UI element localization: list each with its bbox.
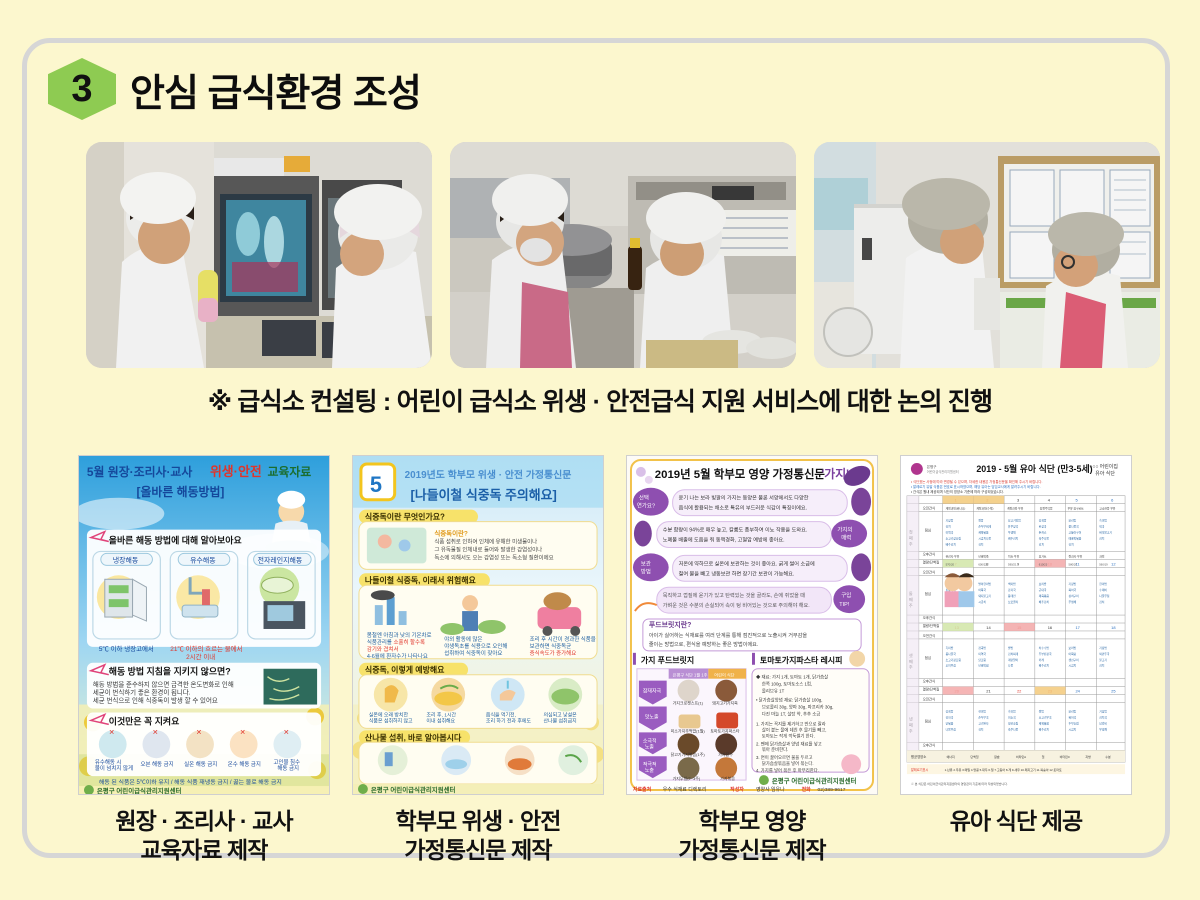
- svg-text:음식에 활용되는 채소로 특유의 부드러운 식감이 특징이에: 음식에 활용되는 채소로 특유의 부드러운 식감이 특징이에요.: [679, 504, 807, 512]
- svg-text:김치: 김치: [978, 727, 984, 731]
- svg-text:유수해동: 유수해동: [190, 555, 216, 564]
- svg-text:점심: 점심: [925, 655, 931, 660]
- svg-text:섭취하여 식중독이 잦아요: 섭취하여 식중독이 잦아요: [444, 649, 502, 657]
- svg-text:단호박찜: 단호박찜: [978, 664, 989, 668]
- svg-text:현미밥: 현미밥: [1099, 582, 1107, 586]
- svg-text:콩나물국: 콩나물국: [946, 652, 957, 656]
- svg-text:김치: 김치: [1069, 542, 1075, 546]
- svg-text:북어국: 북어국: [1069, 715, 1077, 719]
- svg-text:잠재자극: 잠재자극: [643, 688, 662, 695]
- svg-text:590/21: 590/21: [1008, 562, 1017, 566]
- section-number-badge: 3: [48, 58, 116, 120]
- svg-text:노출: 노출: [645, 767, 655, 774]
- svg-text:근대국: 근대국: [1039, 588, 1047, 592]
- svg-text:단호박죽: 단호박죽: [978, 554, 989, 558]
- svg-text:된장국: 된장국: [1039, 525, 1047, 529]
- svg-text:02)389-9617: 02)389-9617: [817, 787, 845, 793]
- svg-text:21℃ 이하의 흐르는 물에서: 21℃ 이하의 흐르는 물에서: [170, 644, 242, 653]
- svg-text:닭조림: 닭조림: [978, 658, 986, 662]
- svg-text:한쪽 100g, 토마토소스 1컵,: 한쪽 100g, 토마토소스 1컵,: [762, 681, 812, 688]
- svg-text:보리밥: 보리밥: [1069, 646, 1077, 650]
- svg-text:14: 14: [986, 625, 991, 630]
- svg-text:4. 가지를 넣어 볶은 후 마무리한다.: 4. 가지를 넣어 볶은 후 마무리한다.: [756, 767, 819, 774]
- poster-thumbnail-parent-nutrition-newsletter[interactable]: 2019년 5월 학부모 영양 가정통신문 '가지' 선택 연가요? 윤기 나는…: [626, 455, 878, 795]
- svg-text:구입: 구입: [841, 591, 851, 599]
- svg-text:음식을 먹기전,: 음식을 먹기전,: [486, 711, 516, 718]
- svg-text:닭가슴살볶음을 넣어 볶는다.: 닭가슴살볶음을 넣어 볶는다.: [762, 760, 814, 767]
- svg-text:냉장해동: 냉장해동: [113, 555, 139, 564]
- svg-text:무생채: 무생채: [1008, 531, 1016, 535]
- svg-text:닭갈비: 닭갈비: [1099, 721, 1107, 725]
- svg-text:불고기: 불고기: [1099, 658, 1107, 662]
- svg-text:시금치나물: 시금치나물: [978, 537, 991, 541]
- svg-text:나들이철 식중독, 이래서 위험해요: 나들이철 식중독, 이래서 위험해요: [365, 575, 477, 585]
- poster-caption-1: 원장 · 조리사 · 교사 교육자료 제작: [115, 807, 292, 866]
- svg-text:✕: ✕: [196, 729, 202, 736]
- svg-text:제육볶음: 제육볶음: [1039, 721, 1050, 725]
- svg-text:야생독초를 식용으로 오인해: 야생독초를 식용으로 오인해: [444, 642, 507, 650]
- svg-text:차수수밥: 차수수밥: [1039, 646, 1050, 650]
- svg-text:배추김치: 배추김치: [1039, 727, 1050, 731]
- svg-text:절여 물을 빼고 냉동보관 하면 장기간 보관이 가능해요.: 절여 물을 빼고 냉동보관 하면 장기간 보관이 가능해요.: [679, 569, 795, 577]
- svg-text:단백질: 단백질: [970, 754, 978, 759]
- svg-text:독소에 의해서도 오는 감염성 또는 독소형 질환이에요: 독소에 의해서도 오는 감염성 또는 독소형 질환이에요: [434, 553, 553, 561]
- svg-text:우유·요구르트: 우유·요구르트: [1068, 507, 1085, 511]
- svg-text:김치: 김치: [1099, 537, 1105, 541]
- svg-text:12: 12: [1111, 561, 1115, 566]
- svg-text:지방: 지방: [1085, 754, 1091, 759]
- svg-text:실온에 오래 방치한: 실온에 오래 방치한: [369, 711, 409, 718]
- svg-text:24: 24: [1075, 689, 1080, 694]
- svg-text:돈까스: 돈까스: [1039, 531, 1047, 535]
- svg-text:5: 5: [370, 472, 382, 497]
- svg-text:미소가지주먹밥(1월): 미소가지주먹밥(1월): [671, 728, 706, 733]
- svg-text:브로콜리: 브로콜리: [1008, 600, 1019, 604]
- svg-text:가지 푸드브릿지: 가지 푸드브릿지: [641, 655, 694, 665]
- svg-text:나물무침: 나물무침: [1099, 594, 1110, 598]
- svg-text:어린이급식관리지원센터: 어린이급식관리지원센터: [927, 469, 959, 474]
- svg-text:은평구 식단 1월 1주: 은평구 식단 1월 1주: [673, 672, 708, 678]
- svg-text:보관: 보관: [641, 559, 651, 567]
- svg-text:오후간식: 오후간식: [923, 551, 935, 556]
- svg-text:오전간식: 오전간식: [923, 506, 935, 511]
- svg-text:떡국: 떡국: [1099, 525, 1105, 529]
- photo-caption: ※ 급식소 컨설팅 : 어린이 급식소 위생 · 안전급식 지원 서비스에 대한…: [0, 382, 1200, 418]
- svg-text:식중독, 이렇게 예방해요: 식중독, 이렇게 예방해요: [365, 665, 445, 675]
- svg-text:제육볶음: 제육볶음: [978, 531, 989, 535]
- svg-text:무생채: 무생채: [1069, 600, 1077, 604]
- poster-caption-2: 학부모 위생 · 안전 가정통신문 제작: [395, 807, 560, 866]
- svg-text:쌀밥: 쌀밥: [978, 519, 984, 523]
- svg-text:닭볶음: 닭볶음: [946, 721, 954, 725]
- svg-text:계란말이: 계란말이: [1008, 658, 1019, 662]
- svg-text:시금치: 시금치: [978, 600, 986, 604]
- svg-text:어린이 식단: 어린이 식단: [714, 672, 734, 678]
- poster-col-2: 5 2019년도 학부모 위생 · 안전 가정통신문 [나들이철 식중독 주의해…: [352, 455, 604, 866]
- svg-text:버섯불고기: 버섯불고기: [1099, 531, 1112, 535]
- svg-text:숙주나물: 숙주나물: [1008, 727, 1019, 731]
- svg-text:5월 원장·조리사·교사: 5월 원장·조리사·교사: [87, 465, 192, 479]
- svg-text:김치: 김치: [1099, 600, 1105, 604]
- svg-text:칼슘: 칼슘: [994, 754, 1000, 759]
- poster-caption-4: 유아 식단 제공: [950, 807, 1083, 836]
- svg-text:숙주나물: 숙주나물: [1039, 537, 1050, 541]
- svg-text:비타민C: 비타민C: [1060, 754, 1071, 759]
- svg-text:계절과일(바나나): 계절과일(바나나): [946, 507, 966, 511]
- svg-text:선택: 선택: [639, 494, 649, 502]
- svg-text:방법: 방법: [641, 567, 651, 575]
- svg-text:열량/단백질: 열량/단백질: [923, 623, 939, 628]
- svg-text:시금치: 시금치: [1069, 664, 1077, 668]
- svg-text:수제비: 수제비: [1099, 588, 1107, 592]
- svg-text:식중독이란 무엇인가요?: 식중독이란 무엇인가요?: [365, 512, 445, 522]
- svg-text:산나물 섭취, 바로 알아봅시다: 산나물 섭취, 바로 알아봅시다: [365, 732, 462, 742]
- svg-text:오전간식: 오전간식: [923, 697, 935, 702]
- svg-text:쌀밥: 쌀밥: [1039, 709, 1045, 713]
- svg-text:가지잡수: 가지잡수: [718, 752, 733, 757]
- slide-header: 3 안심 급식환경 조성: [48, 58, 421, 120]
- svg-text:묵직하고 껍질에 윤기가 있고 탄력있는 것을 골라도, 손: 묵직하고 껍질에 윤기가 있고 탄력있는 것을 골라도, 손에 쥐었을 때: [663, 591, 806, 599]
- svg-text:적극적: 적극적: [643, 761, 657, 768]
- svg-text:해동 방법을 준수하지 않으면 급격한 온도변화로 인해: 해동 방법을 준수하지 않으면 급격한 온도변화로 인해: [93, 680, 234, 689]
- svg-text:4-6월에 환자수가 나타나요: 4-6월에 환자수가 나타나요: [367, 652, 428, 660]
- svg-text:17: 17: [1075, 625, 1079, 630]
- svg-text:2019년도 학부모 위생 · 안전 가정통신문: 2019년도 학부모 위생 · 안전 가정통신문: [405, 468, 572, 481]
- svg-text:◆ 재료: 가지 1개, 토마토 1개, 닭가슴살: ◆ 재료: 가지 1개, 토마토 1개, 닭가슴살: [756, 674, 828, 681]
- svg-text:610/23: 610/23: [1039, 562, 1048, 566]
- svg-text:볶아 준비한다.: 볶아 준비한다.: [762, 746, 788, 753]
- svg-text:백미밥: 백미밥: [1008, 582, 1016, 586]
- svg-text:오이무침: 오이무침: [946, 664, 957, 668]
- svg-text:○○○ 어린이집: ○○○ 어린이집: [1089, 463, 1118, 470]
- svg-text:배추김치: 배추김치: [946, 542, 957, 546]
- svg-text:고인물 침수: 고인물 침수: [273, 758, 300, 766]
- svg-text:삼치구이: 삼치구이: [1069, 594, 1080, 598]
- svg-text:물이 넘치지 않게: 물이 넘치지 않게: [95, 764, 133, 772]
- svg-text:생선구이: 생선구이: [1069, 658, 1080, 662]
- svg-text:560/19: 560/19: [1099, 562, 1108, 566]
- svg-text:현미밥: 현미밥: [978, 709, 986, 713]
- svg-text:570/20: 570/20: [946, 562, 955, 566]
- svg-text:전화: 전화: [802, 786, 812, 793]
- svg-text:돼지불고기: 돼지불고기: [978, 594, 991, 598]
- svg-text:수분 함량이 94%로 매우 높고, 칼륨도 풍부하여 이뇨: 수분 함량이 94%로 매우 높고, 칼륨도 풍부하여 이뇨 작용을 도와요.: [663, 526, 808, 534]
- svg-text:기장밥: 기장밥: [1069, 582, 1077, 586]
- svg-text:소고기무국: 소고기무국: [1039, 715, 1052, 719]
- svg-text:노폐물 배출에 도움을 줘 동맥경화, 고혈압 예방에 좋아: 노폐물 배출에 도움을 줘 동맥경화, 고혈압 예방에 좋아요.: [663, 535, 785, 543]
- svg-text:소극적: 소극적: [643, 737, 657, 744]
- svg-text:✕: ✕: [240, 729, 246, 736]
- svg-text:요거트: 요거트: [1039, 554, 1047, 558]
- svg-text:위생·안전: 위생·안전: [210, 464, 262, 479]
- svg-text:영양사 임유나: 영양사 임유나: [756, 786, 785, 793]
- svg-text:세균이 번식하기 좋은 환경이 됩니다.: 세균이 번식하기 좋은 환경이 됩니다.: [93, 688, 191, 697]
- svg-text:흑미밥: 흑미밥: [946, 646, 954, 650]
- svg-text:산나물 섭취금지: 산나물 섭취금지: [543, 717, 576, 724]
- svg-text:전자레인지해동: 전자레인지해동: [258, 555, 303, 564]
- photo-consulting-noticeboard: [814, 142, 1160, 368]
- svg-text:21: 21: [986, 689, 991, 694]
- svg-text:살이 붙는 물에 데친 후 물기를 빼고,: 살이 붙는 물에 데친 후 물기를 빼고,: [762, 726, 827, 733]
- svg-text:고소한밥·우유: 고소한밥·우유: [1099, 507, 1116, 511]
- svg-text:수분: 수분: [1105, 754, 1111, 759]
- svg-text:연가요?: 연가요?: [637, 502, 655, 510]
- svg-text:동태전: 동태전: [1008, 594, 1016, 598]
- svg-text:아이가 싫어하는 식재료를 여러 단계를 통해 점진적으로: 아이가 싫어하는 식재료를 여러 단계를 통해 점진적으로 노출시켜 거부감을: [649, 631, 808, 639]
- svg-text:비타민A: 비타민A: [1016, 754, 1026, 759]
- svg-text:기장밥: 기장밥: [1099, 646, 1107, 650]
- svg-text:보리밥: 보리밥: [1069, 709, 1077, 713]
- svg-text:나물무침: 나물무침: [946, 727, 957, 731]
- svg-text:쌀밥: 쌀밥: [1008, 646, 1014, 650]
- svg-text:두부된장국: 두부된장국: [1039, 652, 1052, 656]
- svg-text:교육자료: 교육자료: [267, 465, 311, 479]
- photo-consulting-refrigerator: [86, 142, 432, 368]
- svg-text:철: 철: [1042, 754, 1045, 759]
- svg-text:증식속도가 증가해요: 증식속도가 증가해요: [530, 649, 577, 657]
- svg-text:토마토가지파스타 레시피: 토마토가지파스타 레시피: [760, 655, 842, 665]
- svg-text:토마토는 작게 깍둑썰기 한다.: 토마토는 작게 깍둑썰기 한다.: [762, 732, 815, 739]
- svg-text:김치: 김치: [978, 542, 984, 546]
- svg-text:야외 활동에 많은: 야외 활동에 많은: [444, 635, 482, 643]
- svg-text:잡곡밥: 잡곡밥: [1039, 519, 1047, 523]
- svg-text:올리브유 1T: 올리브유 1T: [762, 688, 785, 695]
- svg-text:무생채: 무생채: [1099, 727, 1107, 731]
- svg-text:의심되고 낯설은: 의심되고 낯설은: [543, 711, 577, 718]
- poster-row: 5월 원장·조리사·교사 위생·안전 교육자료 [올바른 해동방법] 올바른 해…: [78, 455, 1132, 866]
- svg-text:소고기장조림: 소고기장조림: [946, 537, 962, 541]
- svg-text:브로콜리 30g, 양파 30g, 파프리카 30g,: 브로콜리 30g, 양파 30g, 파프리카 30g,: [762, 704, 834, 711]
- svg-text:열량/단백질: 열량/단백질: [923, 559, 939, 564]
- svg-text:우수 식재료 디렉토리: 우수 식재료 디렉토리: [663, 786, 707, 793]
- svg-text:TIP!: TIP!: [839, 602, 849, 608]
- svg-text:김치: 김치: [1039, 542, 1045, 546]
- svg-text:북어국: 북어국: [1069, 588, 1077, 592]
- svg-text:오후간식: 오후간식: [923, 679, 935, 684]
- svg-text:2019 - 5월 유아 식단 (만3-5세): 2019 - 5월 유아 식단 (만3-5세): [976, 463, 1092, 474]
- poster-thumbnail-kindergarten-menu[interactable]: 은평구 어린이급식관리지원센터 2019 - 5월 유아 식단 (만3-5세) …: [900, 455, 1132, 795]
- svg-text:계절과일(수박): 계절과일(수박): [976, 507, 993, 511]
- svg-text:1.난류 2.우유 3.메밀 4.땅콩 5.대두 6.밀 7: 1.난류 2.우유 3.메밀 4.땅콩 5.대두 6.밀 7.고등어 8.게 9…: [945, 767, 1062, 772]
- svg-text:저온에 약하므로 실온에 보관하는 것이 좋아요. 굵게 썰: 저온에 약하므로 실온에 보관하는 것이 좋아요. 굵게 썰어 소금에: [679, 559, 815, 567]
- svg-text:맛노출: 맛노출: [645, 713, 659, 720]
- page-title: 안심 급식환경 조성: [130, 62, 421, 117]
- photo-consulting-cooking-area: [450, 142, 796, 368]
- svg-text:시금치: 시금치: [1069, 727, 1077, 731]
- svg-text:16: 16: [1048, 625, 1053, 630]
- svg-text:이것만은 꼭 지켜요: 이것만은 꼭 지켜요: [109, 715, 180, 726]
- svg-text:흑미밥: 흑미밥: [1099, 519, 1107, 523]
- svg-text:김치: 김치: [946, 525, 952, 529]
- svg-text:제육볶음: 제육볶음: [1039, 594, 1050, 598]
- svg-text:생선조림: 생선조림: [1008, 721, 1019, 725]
- svg-text:나물: 나물: [1008, 664, 1014, 668]
- svg-text:가벼운 것은 수분의 손실되어 속이 텅 비어있는 것으로: 가벼운 것은 수분의 손실되어 속이 텅 비어있는 것으로 주의해야 해요.: [663, 601, 810, 609]
- svg-text:콩나물국: 콩나물국: [1069, 525, 1080, 529]
- svg-text:은평구 어린이급식관리지원센터: 은평구 어린이급식관리지원센터: [772, 776, 857, 785]
- svg-text:계절과일·우유: 계절과일·우유: [1007, 507, 1024, 511]
- svg-text:줄이는 방법으로, 편식을 예방하는 좋은 방법이에요.: 줄이는 방법으로, 편식을 예방하는 좋은 방법이에요.: [649, 640, 759, 648]
- svg-text:떡만두국: 떡만두국: [1099, 652, 1110, 656]
- svg-text:점심: 점심: [925, 718, 931, 723]
- svg-text:감자국: 감자국: [1008, 588, 1016, 592]
- svg-text:열량/단백질: 열량/단백질: [923, 687, 939, 692]
- svg-text:푸드브릿지란?: 푸드브릿지란?: [649, 620, 692, 629]
- svg-text:600/22: 600/22: [978, 562, 987, 566]
- svg-text:노출: 노출: [645, 743, 655, 750]
- svg-text:과일: 과일: [1099, 554, 1105, 558]
- svg-text:배추김치: 배추김치: [1008, 537, 1019, 541]
- svg-text:오후간식: 오후간식: [923, 615, 935, 620]
- svg-text:자료출처: 자료출처: [633, 786, 652, 793]
- svg-text:식중독이란?: 식중독이란?: [434, 529, 468, 538]
- svg-text:가지크로켓스프(1): 가지크로켓스프(1): [673, 701, 704, 706]
- svg-text:감기와 겹쳐서: 감기와 겹쳐서: [367, 645, 399, 653]
- svg-text:가지볶음: 가지볶음: [720, 776, 735, 781]
- svg-text:윤기 나는 보라 빛깔의 가지는 동양은 물론 서양에서도: 윤기 나는 보라 빛깔의 가지는 동양은 물론 서양에서도 다양한: [679, 494, 809, 502]
- svg-text:오븐 해동 금지: 오븐 해동 금지: [141, 760, 174, 768]
- svg-text:어묵국: 어묵국: [978, 588, 986, 592]
- svg-text:순두부찌개: 순두부찌개: [978, 525, 991, 529]
- svg-text:매력: 매력: [841, 533, 851, 541]
- svg-text:보리밥: 보리밥: [1039, 582, 1047, 586]
- svg-text:해동 된 식품은 5℃이하 유지 / 해동 식품 재냉동 금: 해동 된 식품은 5℃이하 유지 / 해동 식품 재냉동 금지 / 끓는 물로 …: [99, 778, 282, 786]
- svg-text:• 식단표는 사정에 따라 변경될 수 있으며, 자세한 내: • 식단표는 사정에 따라 변경될 수 있으며, 자세한 내용은 가정통신문을 …: [911, 479, 1043, 484]
- svg-text:점심: 점심: [925, 591, 931, 596]
- svg-text:감자국: 감자국: [946, 715, 954, 719]
- svg-text:• 닭가슴살양념 재료: 닭가슴살 100g,: • 닭가슴살양념 재료: 닭가슴살 100g,: [756, 697, 823, 704]
- svg-text:✕: ✕: [283, 729, 289, 736]
- svg-text:올바른 해동 방법에 대해 알아보아요: 올바른 해동 방법에 대해 알아보아요: [109, 534, 242, 545]
- svg-text:작성자: 작성자: [730, 786, 744, 793]
- svg-text:22: 22: [1017, 689, 1021, 694]
- svg-text:치즈·우유: 치즈·우유: [1008, 554, 1020, 558]
- svg-text:은평구: 은평구: [927, 464, 938, 469]
- svg-text:다진 마늘 1T, 설탕 약, 후추 소금: 다진 마늘 1T, 설탕 약, 후추 소금: [762, 710, 820, 717]
- svg-text:김치찌개: 김치찌개: [1008, 652, 1019, 656]
- svg-text:5℃ 이하 냉장고에서: 5℃ 이하 냉장고에서: [99, 644, 154, 653]
- svg-text:2시간 이내: 2시간 이내: [186, 652, 215, 661]
- photo-row: [86, 142, 1160, 368]
- svg-text:조리 후, 1시간: 조리 후, 1시간: [426, 711, 456, 718]
- svg-text:25: 25: [1111, 689, 1116, 694]
- svg-text:세균 번식으로 인해 식중독이 발생 할 수 있어요: 세균 번식으로 인해 식중독이 발생 할 수 있어요: [93, 696, 218, 705]
- svg-text:✕: ✕: [109, 729, 115, 736]
- poster-caption-3: 학부모 영양 가정통신문 제작: [678, 807, 825, 866]
- svg-text:• 알레르기 유발 식품은 번호로 표시하였으며, 해당 유: • 알레르기 유발 식품은 번호로 표시하였으며, 해당 유아는 담임교사에게 …: [911, 484, 1041, 489]
- poster-thumbnail-education-material[interactable]: 5월 원장·조리사·교사 위생·안전 교육자료 [올바른 해동방법] 올바른 해…: [78, 455, 330, 795]
- svg-text:잡곡밥: 잡곡밥: [946, 709, 954, 713]
- svg-text:1. 가지는 꼭지를 제거하고 반으로 잘라: 1. 가지는 꼭지를 제거하고 반으로 잘라: [756, 720, 826, 727]
- poster-col-4: 은평구 어린이급식관리지원센터 2019 - 5월 유아 식단 (만3-5세) …: [900, 455, 1132, 836]
- svg-text:오후간식: 오후간식: [923, 742, 935, 747]
- svg-text:김치국: 김치국: [1099, 715, 1107, 719]
- svg-text:소고기장조림: 소고기장조림: [946, 658, 962, 662]
- svg-text:쌀과자·우유: 쌀과자·우유: [1069, 554, 1083, 558]
- svg-text:✕: ✕: [152, 729, 158, 736]
- svg-text:돼지고기가지죽: 돼지고기가지죽: [712, 701, 738, 706]
- svg-text:알레르기표시: 알레르기표시: [911, 767, 928, 772]
- svg-text:보리밥: 보리밥: [1069, 519, 1077, 523]
- svg-text:식품관리를 소홀히 할수록: 식품관리를 소홀히 할수록: [367, 638, 425, 646]
- svg-text:오전간식: 오전간식: [923, 569, 935, 574]
- svg-text:찐감자·우유: 찐감자·우유: [946, 554, 960, 558]
- svg-text:3. 면이 끓어오르면 물을 두르고: 3. 면이 끓어오르면 물을 두르고: [756, 754, 813, 761]
- svg-text:식품은 섭취하지 않고: 식품은 섭취하지 않고: [369, 717, 413, 724]
- svg-text:닭고기가지볶음(1주): 닭고기가지볶음(1주): [671, 752, 706, 757]
- svg-text:미역국: 미역국: [946, 531, 954, 535]
- svg-text:발아현미밥: 발아현미밥: [978, 582, 991, 586]
- svg-text:해동 방법 지침을 지키지 않으면?: 해동 방법 지침을 지키지 않으면?: [109, 666, 231, 677]
- svg-text:18: 18: [1111, 625, 1116, 630]
- svg-text:• 간식은 원내 제공되며 식단의 영양소 기준에 따라 구: • 간식은 원내 제공되며 식단의 영양소 기준에 따라 구성되었습니다.: [911, 489, 1004, 494]
- svg-text:2. 팬에 닭가슴살과 양념 재료를 넣고: 2. 팬에 닭가슴살과 양념 재료를 넣고: [756, 740, 822, 747]
- svg-text:순두부국: 순두부국: [978, 715, 989, 719]
- svg-text:식품 섭취로 인하여 인체에 유해한 미생물이나: 식품 섭취로 인하여 인체에 유해한 미생물이나: [434, 537, 537, 545]
- svg-text:[올바른 해동방법]: [올바른 해동방법]: [137, 485, 225, 499]
- svg-text:가지무침(2~3주): 가지무침(2~3주): [673, 776, 701, 781]
- svg-text:[나들이철 식중독 주의해요]: [나들이철 식중독 주의해요]: [411, 488, 557, 503]
- svg-text:배추김치: 배추김치: [1039, 664, 1050, 668]
- svg-text:실온 해동 금지: 실온 해동 금지: [184, 760, 217, 768]
- svg-text:고등어구이: 고등어구이: [1069, 531, 1082, 535]
- svg-text:흑미밥: 흑미밥: [1008, 709, 1016, 713]
- svg-text:토마토가지파스타: 토마토가지파스타: [710, 728, 740, 733]
- svg-text:미역국: 미역국: [978, 652, 986, 656]
- svg-text:닭고기덮밥: 닭고기덮밥: [1008, 519, 1021, 523]
- poster-thumbnail-parent-safety-newsletter[interactable]: 5 2019년도 학부모 위생 · 안전 가정통신문 [나들이철 식중독 주의해…: [352, 455, 604, 795]
- svg-text:배추김치: 배추김치: [1039, 600, 1050, 604]
- poster-col-3: 2019년 5월 학부모 영양 가정통신문 '가지' 선택 연가요? 윤기 나는…: [626, 455, 878, 866]
- svg-text:평균영양소: 평균영양소: [911, 754, 926, 759]
- svg-text:봄철엔 아침과 낮의 기온차로: 봄철엔 아침과 낮의 기온차로: [367, 631, 432, 639]
- svg-text:가지의: 가지의: [837, 526, 852, 534]
- svg-text:유아 식단: 유아 식단: [1095, 470, 1115, 477]
- svg-text:기장밥: 기장밥: [946, 519, 954, 523]
- svg-text:조리 후 시간이 경과한 식품을: 조리 후 시간이 경과한 식품을: [530, 635, 596, 643]
- svg-text:조리 하기 전과 후에도: 조리 하기 전과 후에도: [486, 717, 532, 724]
- svg-text:보관하면 식중독균: 보관하면 식중독균: [530, 642, 572, 650]
- poster-col-1: 5월 원장·조리사·교사 위생·안전 교육자료 [올바른 해동방법] 올바른 해…: [78, 455, 330, 866]
- svg-text:유수해동 시: 유수해동 시: [95, 758, 122, 766]
- svg-text:카레: 카레: [1039, 658, 1045, 662]
- svg-text:미소국: 미소국: [1008, 715, 1016, 719]
- svg-text:유부장국: 유부장국: [1008, 525, 1019, 529]
- svg-text:온수 해동 금지: 온수 해동 금지: [228, 760, 261, 768]
- svg-text:오전간식: 오전간식: [923, 633, 935, 638]
- svg-text:※ 본 식단은 어린이급식관리지원센터의 영양관리 기준에: ※ 본 식단은 어린이급식관리지원센터의 영양관리 기준에 따라 작성되었습니다…: [911, 781, 1008, 786]
- svg-text:점심: 점심: [925, 528, 931, 533]
- svg-text:그 유독물질 인체내로 들어와 발생한 감염성이나: 그 유독물질 인체내로 들어와 발생한 감염성이나: [434, 545, 542, 553]
- svg-text:두부조림: 두부조림: [1069, 721, 1080, 725]
- svg-text:580/20: 580/20: [1069, 562, 1078, 566]
- svg-text:찹쌀주먹밥: 찹쌀주먹밥: [1040, 507, 1053, 511]
- svg-text:은평구 어린이급식관리지원센터: 은평구 어린이급식관리지원센터: [97, 786, 182, 794]
- svg-text:이내 섭취해요: 이내 섭취해요: [426, 717, 455, 724]
- svg-text:애호박볶음: 애호박볶음: [1069, 537, 1082, 541]
- svg-text:김치: 김치: [1099, 664, 1105, 668]
- svg-text:에너지: 에너지: [947, 754, 955, 759]
- svg-text:2019년 5월 학부모 영양 가정통신문: 2019년 5월 학부모 영양 가정통신문: [655, 467, 826, 481]
- svg-text:은평구 어린이급식관리지원센터: 은평구 어린이급식관리지원센터: [371, 785, 456, 794]
- svg-text:고기완자: 고기완자: [978, 721, 989, 725]
- svg-text:잡곡밥: 잡곡밥: [978, 646, 986, 650]
- svg-text:해동 금지: 해동 금지: [277, 764, 299, 772]
- svg-text:기장밥: 기장밥: [1099, 709, 1107, 713]
- svg-text:어묵탕: 어묵탕: [1069, 652, 1077, 656]
